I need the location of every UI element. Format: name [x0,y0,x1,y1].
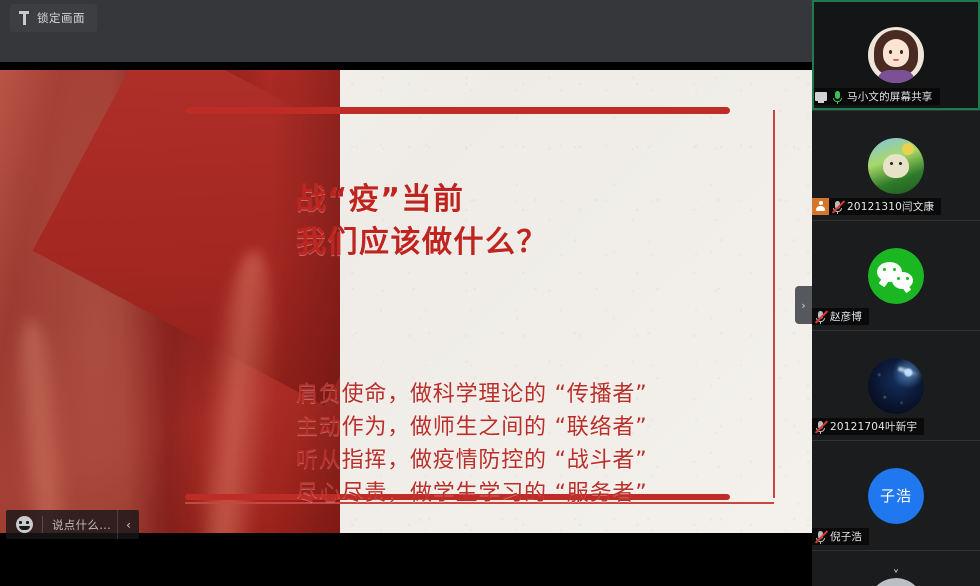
slide-body-line-1: 肩负使命，做科学理论的 “传播者” [296,378,647,411]
mic-muted-icon [829,198,847,215]
lock-screen-label: 锁定画面 [37,10,85,26]
slide-frame-top-rule [185,107,730,114]
participant-filmstrip[interactable]: 马小文的屏幕共享 20121310闫文康 [812,0,980,586]
chevron-down-icon[interactable]: ˅ [812,569,980,584]
participant-name: 20121310闫文康 [847,199,934,214]
mic-muted-icon [812,528,830,545]
avatar [868,27,924,83]
participant-namebar: 倪子浩 [812,528,869,545]
avatar [868,138,924,194]
slide-body-line-3: 听从指挥，做疫情防控的 “战斗者” [296,444,647,477]
participant-name: 20121704叶新宇 [830,419,917,434]
slide-title-line-1: 战“疫”当前 [296,178,548,221]
slide-body-line-4: 尽心尽责，做学生学习的 “服务者” [296,477,647,510]
participant-name: 倪子浩 [830,529,862,544]
avatar: 子浩 [868,468,924,524]
letterbox-top [0,62,812,70]
avatar [868,358,924,414]
chevron-left-icon[interactable]: ‹ [117,510,139,539]
participant-name: 赵彦博 [830,309,862,324]
avatar [868,248,924,304]
participant-tile[interactable]: 子浩 倪子浩 [812,440,980,550]
meeting-window: 锁定画面 战“疫”当前 我们应该做什么？ 肩负使命，做科学理论的 [0,0,980,586]
slide-body-line-2: 主动作为，做师生之间的 “联络者” [296,411,647,444]
participant-namebar: 赵彦博 [812,308,869,325]
participant-namebar: 20121310闫文康 [812,198,941,215]
pin-icon [18,11,30,25]
chevron-right-icon: › [801,299,805,312]
slide-frame-right-border [773,110,775,498]
person-icon [812,198,829,215]
participant-tile[interactable]: 20121704叶新宇 [812,330,980,440]
girl-cartoon-avatar [868,27,924,83]
letterbox-bottom [0,533,812,586]
slide-title-line-2: 我们应该做什么？ [296,221,548,264]
participant-tile[interactable]: 20121310闫文康 [812,110,980,220]
wechat-logo-avatar [868,248,924,304]
participant-tile[interactable]: 马小文的屏幕共享 [812,0,980,110]
mic-muted-icon [812,418,830,435]
screen-share-icon [812,88,829,105]
participant-tile[interactable]: 赵彦博 [812,220,980,330]
chat-input-bar: ‹ [6,510,139,539]
space-avatar [868,358,924,414]
presentation-slide: 战“疫”当前 我们应该做什么？ 肩负使命，做科学理论的 “传播者” 主动作为，做… [0,70,812,533]
slide-body-block: 肩负使命，做科学理论的 “传播者” 主动作为，做师生之间的 “联络者” 听从指挥… [296,378,647,510]
shared-screen-stage: 锁定画面 战“疫”当前 我们应该做什么？ 肩负使命，做科学理论的 [0,0,812,586]
panel-collapse-handle[interactable]: › [795,286,812,324]
red-fabric-decoration [0,70,340,533]
participant-name: 马小文的屏幕共享 [847,89,933,104]
participant-namebar: 20121704叶新宇 [812,418,924,435]
lock-screen-button[interactable]: 锁定画面 [10,4,97,32]
participant-namebar: 马小文的屏幕共享 [812,88,940,105]
smiley-icon[interactable] [6,510,42,539]
mic-on-icon [829,88,847,105]
initials-avatar: 子浩 [868,468,924,524]
slide-title-block: 战“疫”当前 我们应该做什么？ [296,178,548,264]
chat-input[interactable] [43,518,117,532]
stage-top-toolbar: 锁定画面 [0,0,812,62]
mic-muted-icon [812,308,830,325]
green-cartoon-avatar [868,138,924,194]
